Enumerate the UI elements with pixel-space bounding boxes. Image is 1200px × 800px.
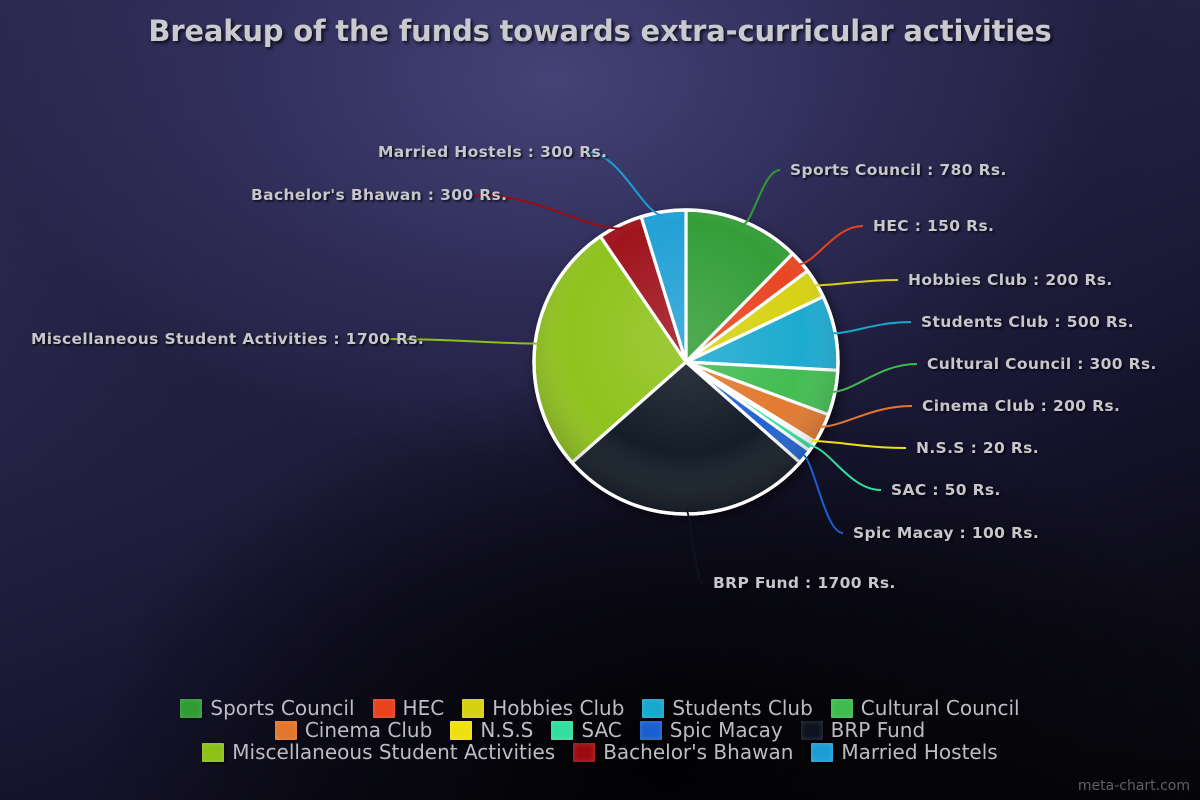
legend-swatch-icon <box>373 699 395 718</box>
legend-row: Sports CouncilHECHobbies ClubStudents Cl… <box>28 698 1172 718</box>
legend-item-hobbies-club[interactable]: Hobbies Club <box>462 698 624 718</box>
legend-item-label: Spic Macay <box>670 720 783 740</box>
legend-item-miscellaneous-student-activities[interactable]: Miscellaneous Student Activities <box>202 742 555 762</box>
legend-item-cultural-council[interactable]: Cultural Council <box>831 698 1020 718</box>
legend-item-n-s-s[interactable]: N.S.S <box>450 720 533 740</box>
callout-brp-fund: BRP Fund : 1700 Rs. <box>713 574 896 592</box>
watermark: meta-chart.com <box>1078 778 1190 794</box>
callout-married-hostels: Married Hostels : 300 Rs. <box>378 143 607 161</box>
legend-swatch-icon <box>811 743 833 762</box>
legend-item-spic-macay[interactable]: Spic Macay <box>640 720 783 740</box>
leader-line-hobbies-club <box>813 280 898 285</box>
leader-line-cinema-club <box>819 406 912 427</box>
page-title: Breakup of the funds towards extra-curri… <box>0 14 1200 48</box>
legend-swatch-icon <box>450 721 472 740</box>
legend-item-sports-council[interactable]: Sports Council <box>180 698 354 718</box>
legend-item-label: HEC <box>403 698 445 718</box>
leader-line-brp-fund <box>686 510 703 583</box>
callout-sports-council: Sports Council : 780 Rs. <box>790 161 1007 179</box>
legend-swatch-icon <box>640 721 662 740</box>
legend-swatch-icon <box>551 721 573 740</box>
legend-swatch-icon <box>831 699 853 718</box>
legend-item-cinema-club[interactable]: Cinema Club <box>275 720 433 740</box>
callout-nss: N.S.S : 20 Rs. <box>916 439 1039 457</box>
callout-hobbies-club: Hobbies Club : 200 Rs. <box>908 271 1113 289</box>
leader-line-hec <box>797 226 863 265</box>
leader-line-students-club <box>831 322 911 333</box>
legend-item-students-club[interactable]: Students Club <box>642 698 812 718</box>
callout-spic-macay: Spic Macay : 100 Rs. <box>853 524 1039 542</box>
legend-item-label: Students Club <box>672 698 812 718</box>
legend-item-label: Sports Council <box>210 698 354 718</box>
legend-row: Miscellaneous Student ActivitiesBachelor… <box>28 742 1172 762</box>
legend-item-label: Miscellaneous Student Activities <box>232 742 555 762</box>
leader-line-sac <box>808 445 881 490</box>
legend-item-sac[interactable]: SAC <box>551 720 621 740</box>
leader-line-married-hostels <box>587 152 664 216</box>
legend-item-hec[interactable]: HEC <box>373 698 445 718</box>
callout-sac: SAC : 50 Rs. <box>891 481 1001 499</box>
legend-swatch-icon <box>275 721 297 740</box>
legend-swatch-icon <box>202 743 224 762</box>
legend-item-label: Married Hostels <box>841 742 997 762</box>
legend-swatch-icon <box>462 699 484 718</box>
legend-item-bachelor-s-bhawan[interactable]: Bachelor's Bhawan <box>573 742 793 762</box>
leader-line-sports-council <box>742 170 780 225</box>
legend-item-label: Bachelor's Bhawan <box>603 742 793 762</box>
callout-miscellaneous: Miscellaneous Student Activities : 1700 … <box>31 330 424 348</box>
legend-item-married-hostels[interactable]: Married Hostels <box>811 742 997 762</box>
legend-item-label: Hobbies Club <box>492 698 624 718</box>
legend: Sports CouncilHECHobbies ClubStudents Cl… <box>0 698 1200 764</box>
legend-item-brp-fund[interactable]: BRP Fund <box>801 720 926 740</box>
legend-row: Cinema ClubN.S.SSACSpic MacayBRP Fund <box>28 720 1172 740</box>
callout-bachelors-bhawan: Bachelor's Bhawan : 300 Rs. <box>251 186 507 204</box>
legend-item-label: N.S.S <box>480 720 533 740</box>
callout-students-club: Students Club : 500 Rs. <box>921 313 1134 331</box>
chart-canvas: Breakup of the funds towards extra-curri… <box>0 0 1200 800</box>
callout-cultural-council: Cultural Council : 300 Rs. <box>927 355 1157 373</box>
legend-item-label: BRP Fund <box>831 720 926 740</box>
legend-swatch-icon <box>801 721 823 740</box>
callout-cinema-club: Cinema Club : 200 Rs. <box>922 397 1120 415</box>
leader-line-cultural-council <box>831 364 917 392</box>
legend-item-label: Cinema Club <box>305 720 433 740</box>
legend-swatch-icon <box>573 743 595 762</box>
legend-item-label: SAC <box>581 720 621 740</box>
legend-swatch-icon <box>642 699 664 718</box>
callout-hec: HEC : 150 Rs. <box>873 217 994 235</box>
legend-swatch-icon <box>180 699 202 718</box>
leader-line-nss <box>811 441 906 448</box>
legend-item-label: Cultural Council <box>861 698 1020 718</box>
